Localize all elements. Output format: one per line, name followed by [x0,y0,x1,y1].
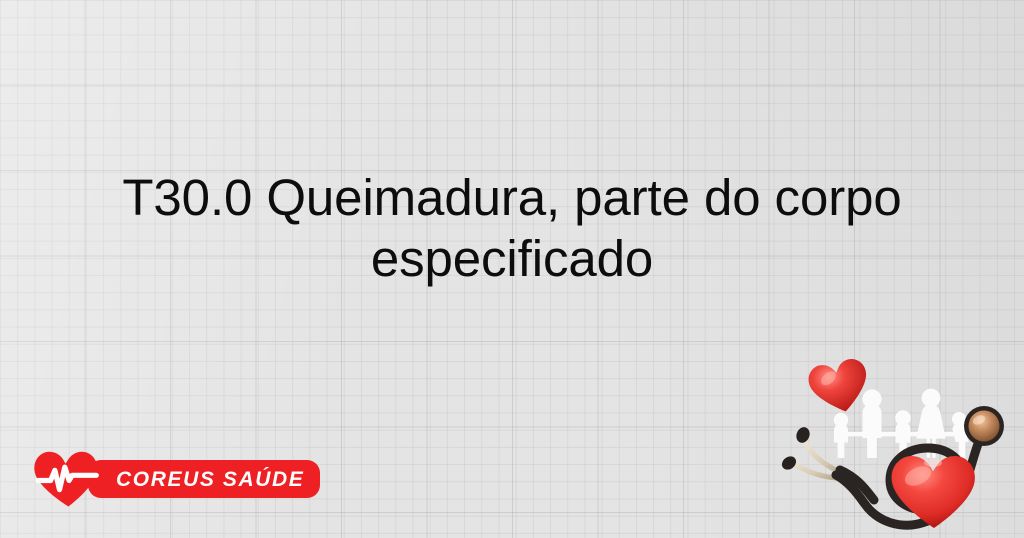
slide-canvas: T30.0 Queimadura, parte do corpo especif… [0,0,1024,538]
page-title: T30.0 Queimadura, parte do corpo especif… [40,168,984,289]
title-line-2: especificado [40,229,984,290]
heart-icon-small [806,356,873,417]
brand-logo[interactable]: COREUS SAÚDE [32,450,320,508]
heart-icon-large [892,456,975,528]
heart-pulse-icon [32,450,106,508]
title-line-1: T30.0 Queimadura, parte do corpo [40,168,984,229]
health-illustration [778,348,1024,538]
brand-badge: COREUS SAÚDE [88,460,320,498]
brand-name: COREUS SAÚDE [116,469,304,490]
stethoscope-chestpiece [964,406,1004,446]
